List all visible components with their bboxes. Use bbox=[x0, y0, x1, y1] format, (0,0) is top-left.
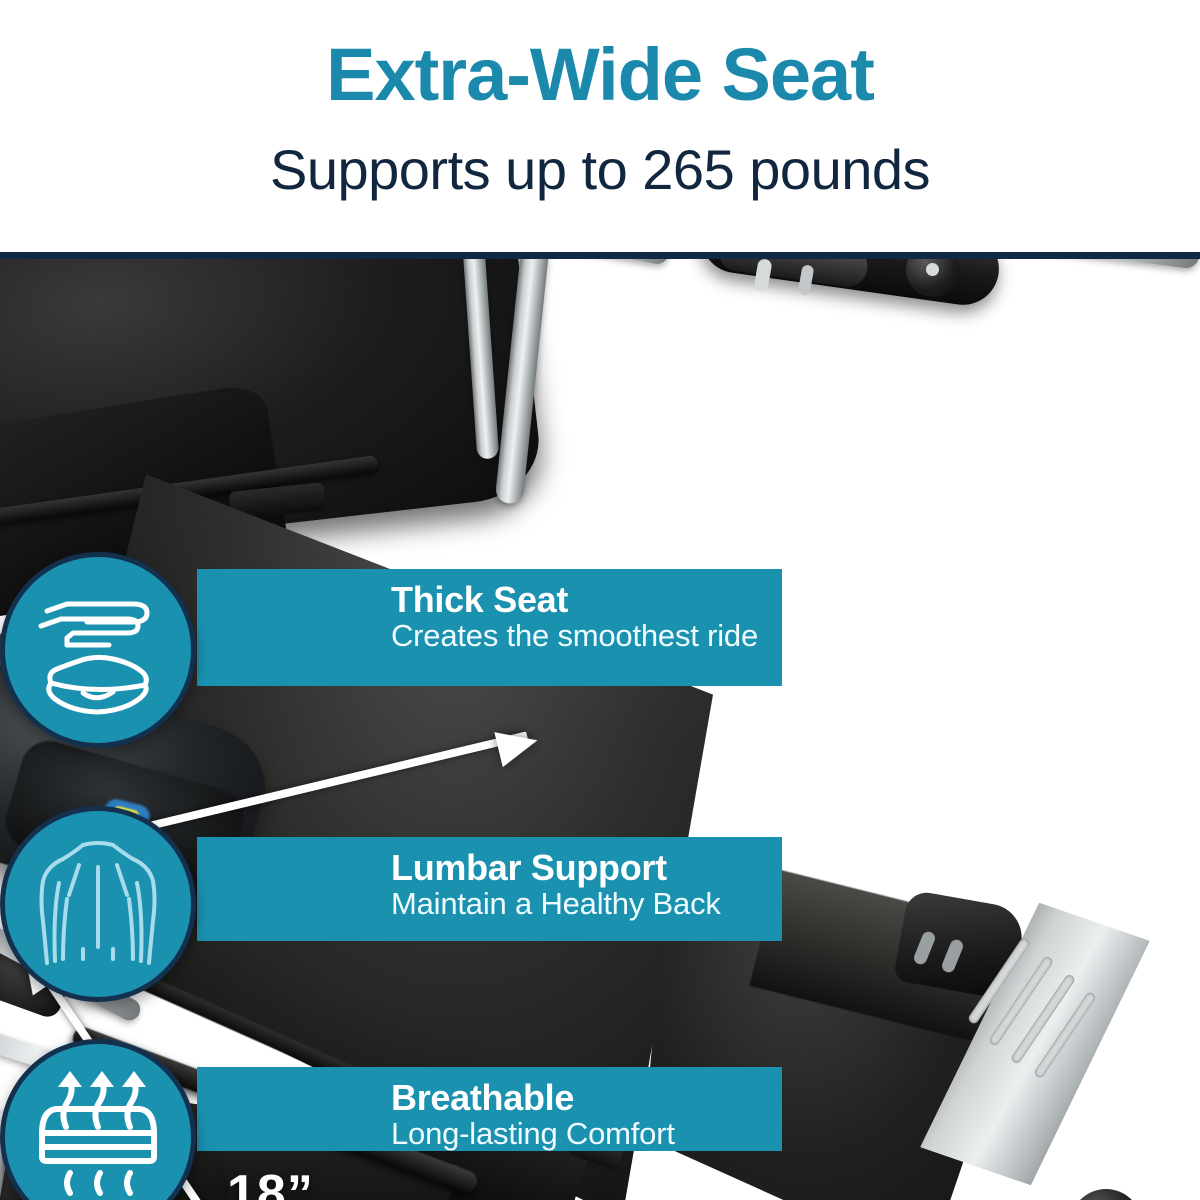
header: Extra-Wide Seat Supports up to 265 pound… bbox=[0, 0, 1200, 252]
armrest-knob-hole bbox=[926, 263, 939, 276]
feature-subtitle: Maintain a Healthy Back bbox=[391, 887, 760, 922]
feature-icon-circle-thick-seat bbox=[0, 552, 196, 748]
page-title: Extra-Wide Seat bbox=[0, 38, 1200, 112]
hand-over-cushion-icon bbox=[23, 575, 173, 725]
feature-icon-circle-lumbar-support bbox=[0, 806, 196, 1002]
frame-knob bbox=[1070, 1189, 1142, 1200]
feature-badge-thick-seat: Thick Seat Creates the smoothest ride bbox=[197, 569, 782, 686]
product-photo: 18” 18” Thick Seat Creates the smoothest… bbox=[0, 259, 1200, 1200]
page-subtitle: Supports up to 265 pounds bbox=[0, 142, 1200, 198]
breathable-airflow-mattress-icon bbox=[22, 1061, 174, 1200]
feature-title: Thick Seat bbox=[391, 581, 760, 619]
feature-icon-circle-breathable bbox=[0, 1039, 196, 1200]
feature-badge-lumbar-support: Lumbar Support Maintain a Healthy Back bbox=[197, 837, 782, 941]
feature-badge-breathable: Breathable Long-lasting Comfort bbox=[197, 1067, 782, 1151]
human-back-icon bbox=[23, 829, 173, 979]
product-feature-graphic: Extra-Wide Seat Supports up to 265 pound… bbox=[0, 0, 1200, 1200]
armrest-pad-insert bbox=[716, 259, 870, 289]
feature-title: Lumbar Support bbox=[391, 849, 760, 887]
seat-depth-label: 18” bbox=[227, 1164, 314, 1200]
feature-subtitle: Long-lasting Comfort bbox=[391, 1117, 760, 1152]
feature-subtitle: Creates the smoothest ride bbox=[391, 619, 760, 654]
header-divider bbox=[0, 252, 1200, 259]
feature-title: Breathable bbox=[391, 1079, 760, 1117]
